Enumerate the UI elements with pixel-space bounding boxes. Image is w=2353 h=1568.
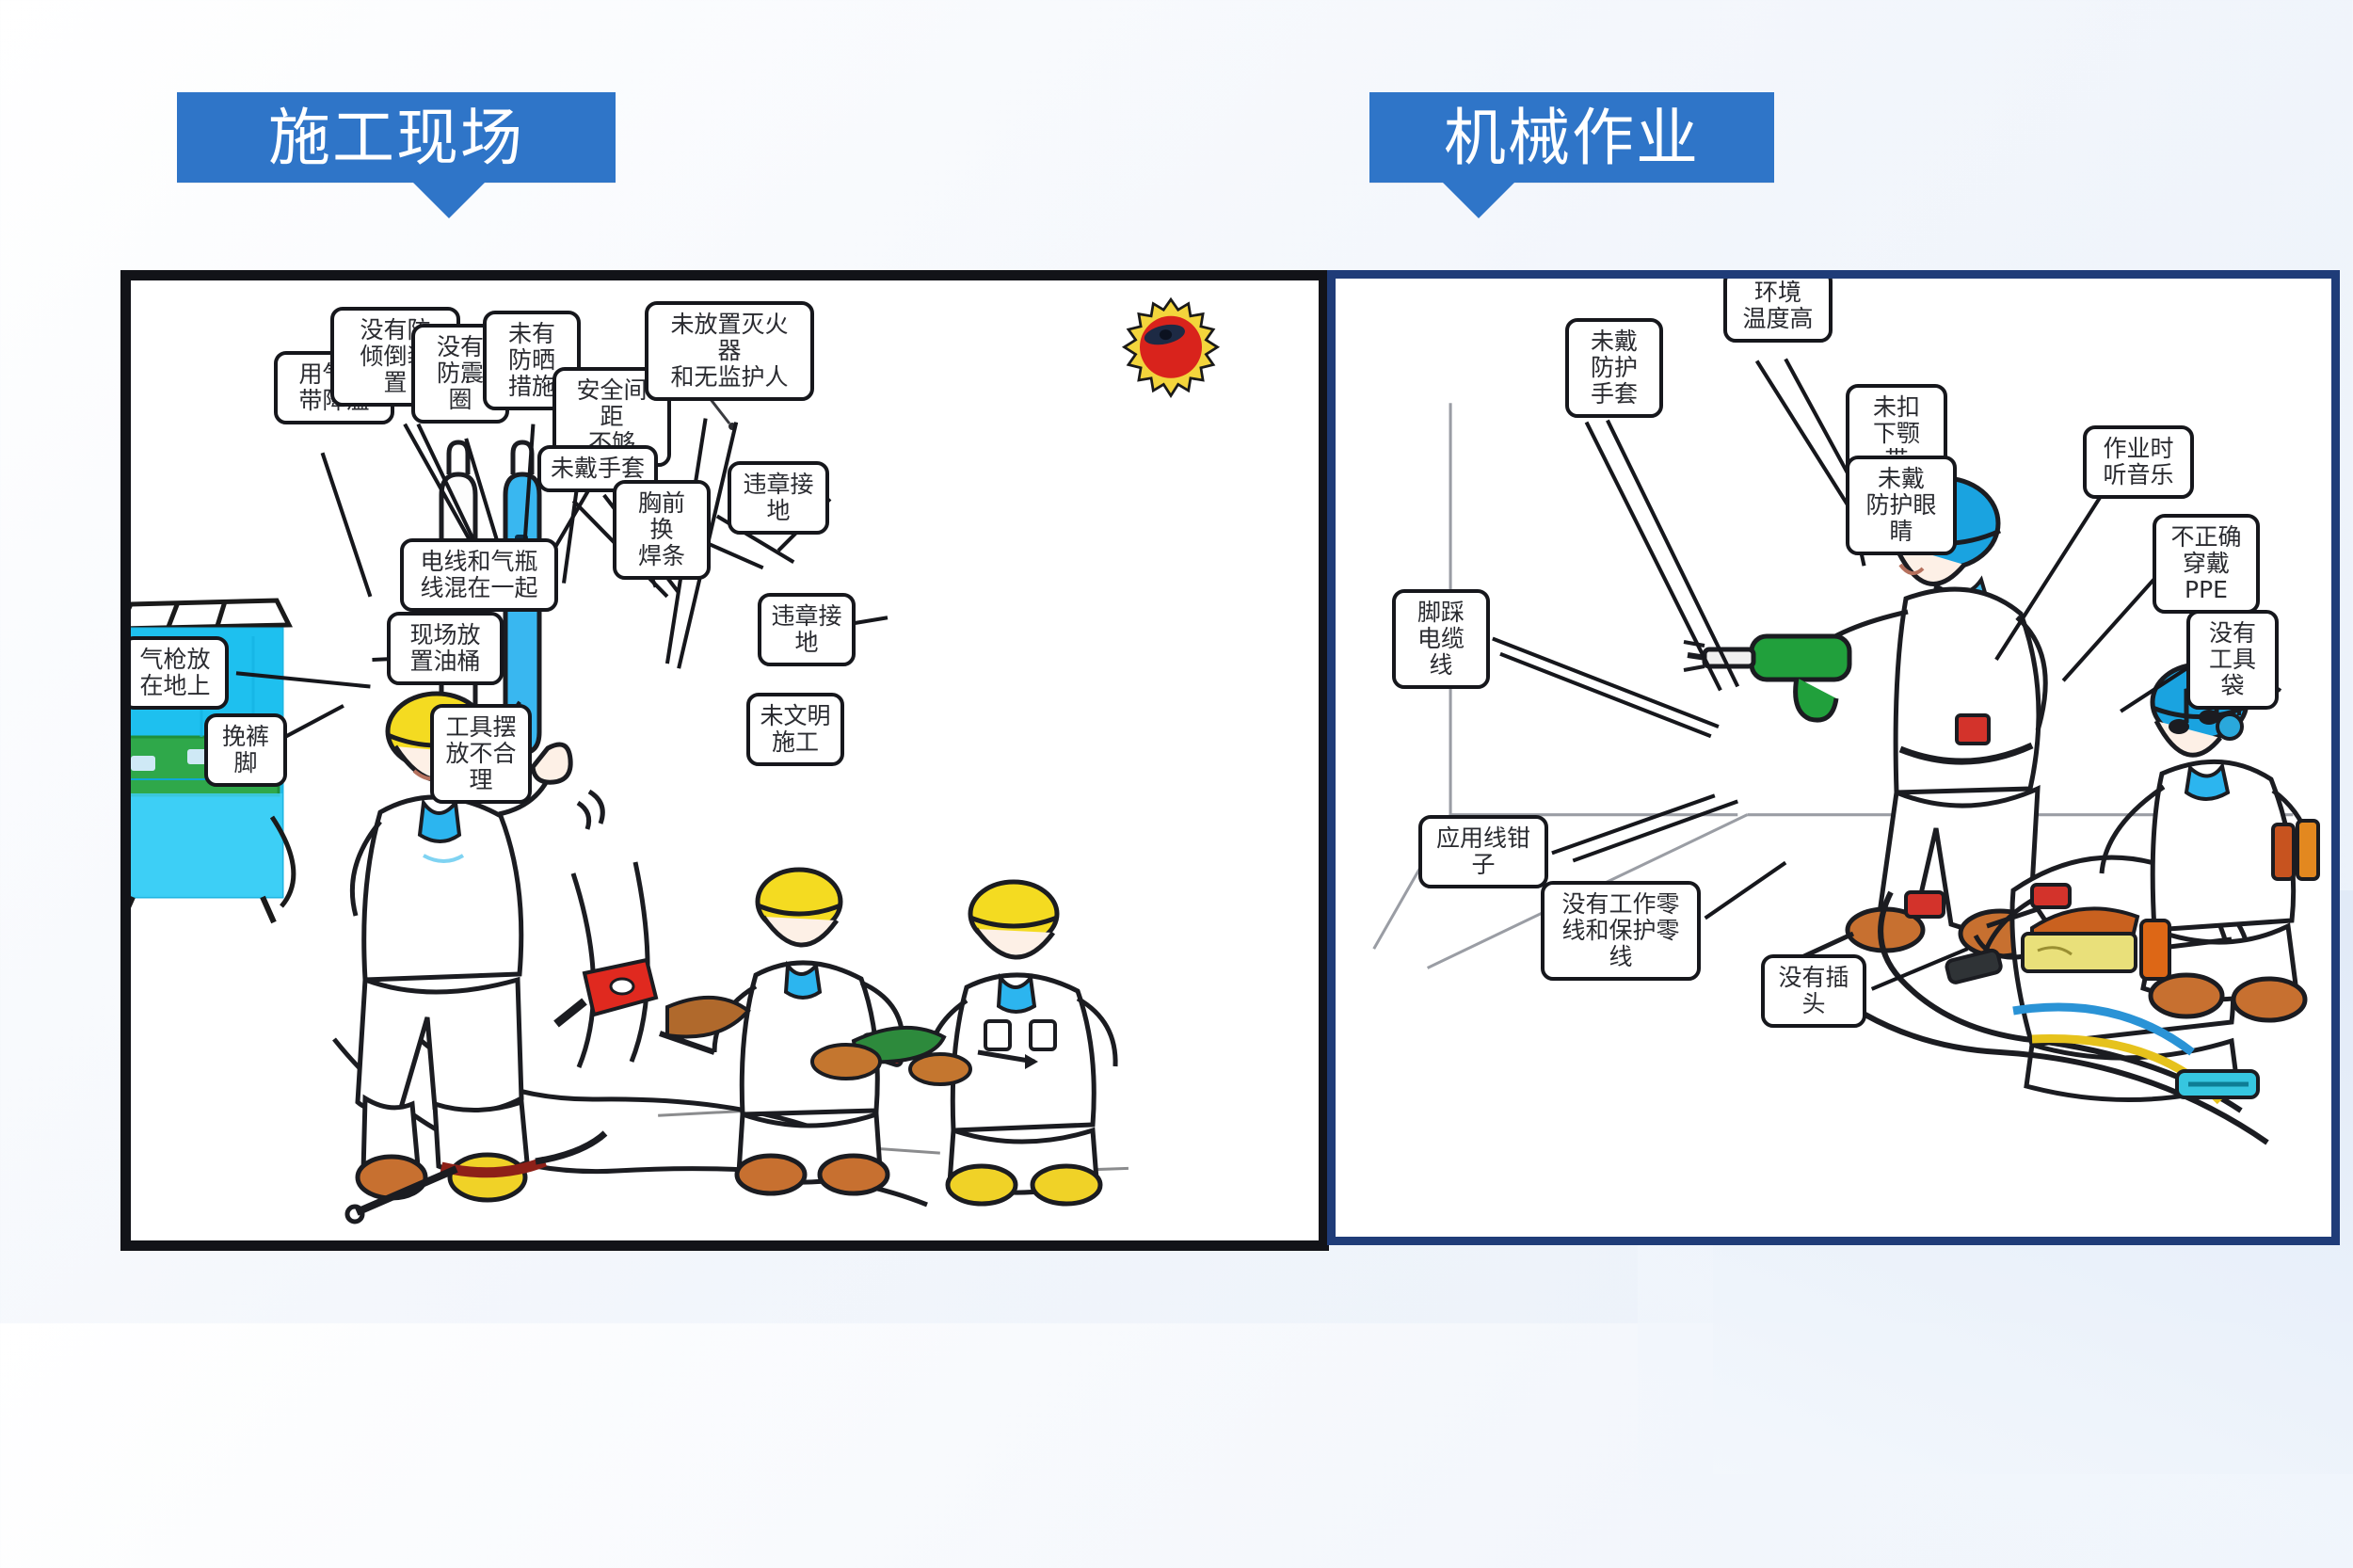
banner-pointer-icon <box>413 183 485 218</box>
label-text: 没有插头 <box>1778 964 1849 1017</box>
scattered-tools <box>536 939 1119 1128</box>
banner-mechanical-operation-label: 机械作业 <box>1444 106 1700 168</box>
label-text: 挽裤脚 <box>222 723 269 776</box>
banner-mechanical-operation: 机械作业 <box>1369 92 1774 183</box>
label-illegal-grounding-lower: 违章接地 <box>758 593 856 666</box>
mechanical-operation-illustration-panel: 未戴防护手套 环境温度高 未扣下颚带 未戴防护眼睛 作业时听音乐 不正确穿戴PP… <box>1327 270 2340 1245</box>
label-text: 胸前换焊条 <box>638 489 685 569</box>
label-text: 应用线钳子 <box>1436 824 1530 878</box>
banner-construction-site-label: 施工现场 <box>268 106 524 168</box>
label-text: 气枪放在地上 <box>139 646 210 699</box>
hammer-and-tools <box>1994 853 2296 1003</box>
label-text: 未放置灭火器和无监护人 <box>670 311 788 391</box>
label-text: 未有防晒措施 <box>508 320 555 400</box>
label-change-electrode-at-chest: 胸前换焊条 <box>613 480 711 580</box>
label-text: 未戴手套 <box>551 455 645 482</box>
label-text: 未文明施工 <box>760 702 830 756</box>
label-text: 未戴防护手套 <box>1591 328 1638 408</box>
label-text: 违章接地 <box>743 471 813 524</box>
label-illegal-grounding-upper: 违章接地 <box>728 461 829 535</box>
label-no-tool-bag: 没有工具袋 <box>2186 610 2279 710</box>
label-text: 作业时听音乐 <box>2103 435 2173 488</box>
label-stepping-on-cable: 脚踩电缆线 <box>1392 589 1490 689</box>
label-text: 环境温度高 <box>1742 279 1813 332</box>
label-listening-to-music-at-work: 作业时听音乐 <box>2083 425 2194 499</box>
label-no-extinguisher-no-watcher: 未放置灭火器和无监护人 <box>645 301 814 401</box>
construction-site-scene: 用气瓶带降温 没有防倾倒装置 没有防震圈 未有防晒措施 安全间距不够 未放置灭火… <box>131 280 1319 1240</box>
banner-pointer-icon <box>1443 183 1514 218</box>
label-no-eye-protection: 未戴防护眼睛 <box>1846 456 1957 555</box>
label-rolled-up-trousers: 挽裤脚 <box>204 713 287 787</box>
label-text: 违章接地 <box>771 602 841 656</box>
label-text: 脚踩电缆线 <box>1417 599 1465 679</box>
label-incorrect-ppe: 不正确穿戴PPE <box>2153 514 2260 614</box>
label-tools-badly-placed: 工具摆放不合理 <box>430 704 532 804</box>
construction-site-illustration-panel: 用气瓶带降温 没有防倾倒装置 没有防震圈 未有防晒措施 安全间距不够 未放置灭火… <box>120 270 1329 1251</box>
label-no-plug: 没有插头 <box>1761 954 1866 1028</box>
label-text: 未戴防护眼睛 <box>1865 465 1936 545</box>
label-text: 现场放置油桶 <box>409 621 480 675</box>
mechanical-operation-scene: 未戴防护手套 环境温度高 未扣下颚带 未戴防护眼睛 作业时听音乐 不正确穿戴PP… <box>1336 279 2331 1237</box>
power-drill <box>1684 608 1900 740</box>
label-text: 没有工作零线和保护零线 <box>1561 890 1679 970</box>
air-gun-and-hose <box>300 1109 696 1251</box>
sun-hazard-icon <box>1119 297 1223 401</box>
label-no-neutral-or-protective-wire: 没有工作零线和保护零线 <box>1541 881 1701 981</box>
label-uncivilized-construction: 未文明施工 <box>746 693 844 766</box>
label-text: 没有工具袋 <box>2209 619 2256 699</box>
banner-construction-site: 施工现场 <box>177 92 616 183</box>
label-text: 没有防震圈 <box>437 333 484 413</box>
label-wires-and-cylinder-lines-mixed: 电线和气瓶线混在一起 <box>400 538 558 612</box>
label-air-gun-on-ground: 气枪放在地上 <box>121 636 229 710</box>
label-text: 工具摆放不合理 <box>445 713 516 793</box>
label-no-protective-gloves: 未戴防护手套 <box>1565 318 1663 418</box>
label-text: 电线和气瓶线混在一起 <box>420 548 537 601</box>
label-text: 不正确穿戴PPE <box>2170 523 2241 603</box>
label-oil-drum-on-site: 现场放置油桶 <box>387 612 504 685</box>
label-should-use-wire-pliers: 应用线钳子 <box>1418 815 1548 888</box>
label-high-ambient-temperature: 环境温度高 <box>1723 270 1833 343</box>
